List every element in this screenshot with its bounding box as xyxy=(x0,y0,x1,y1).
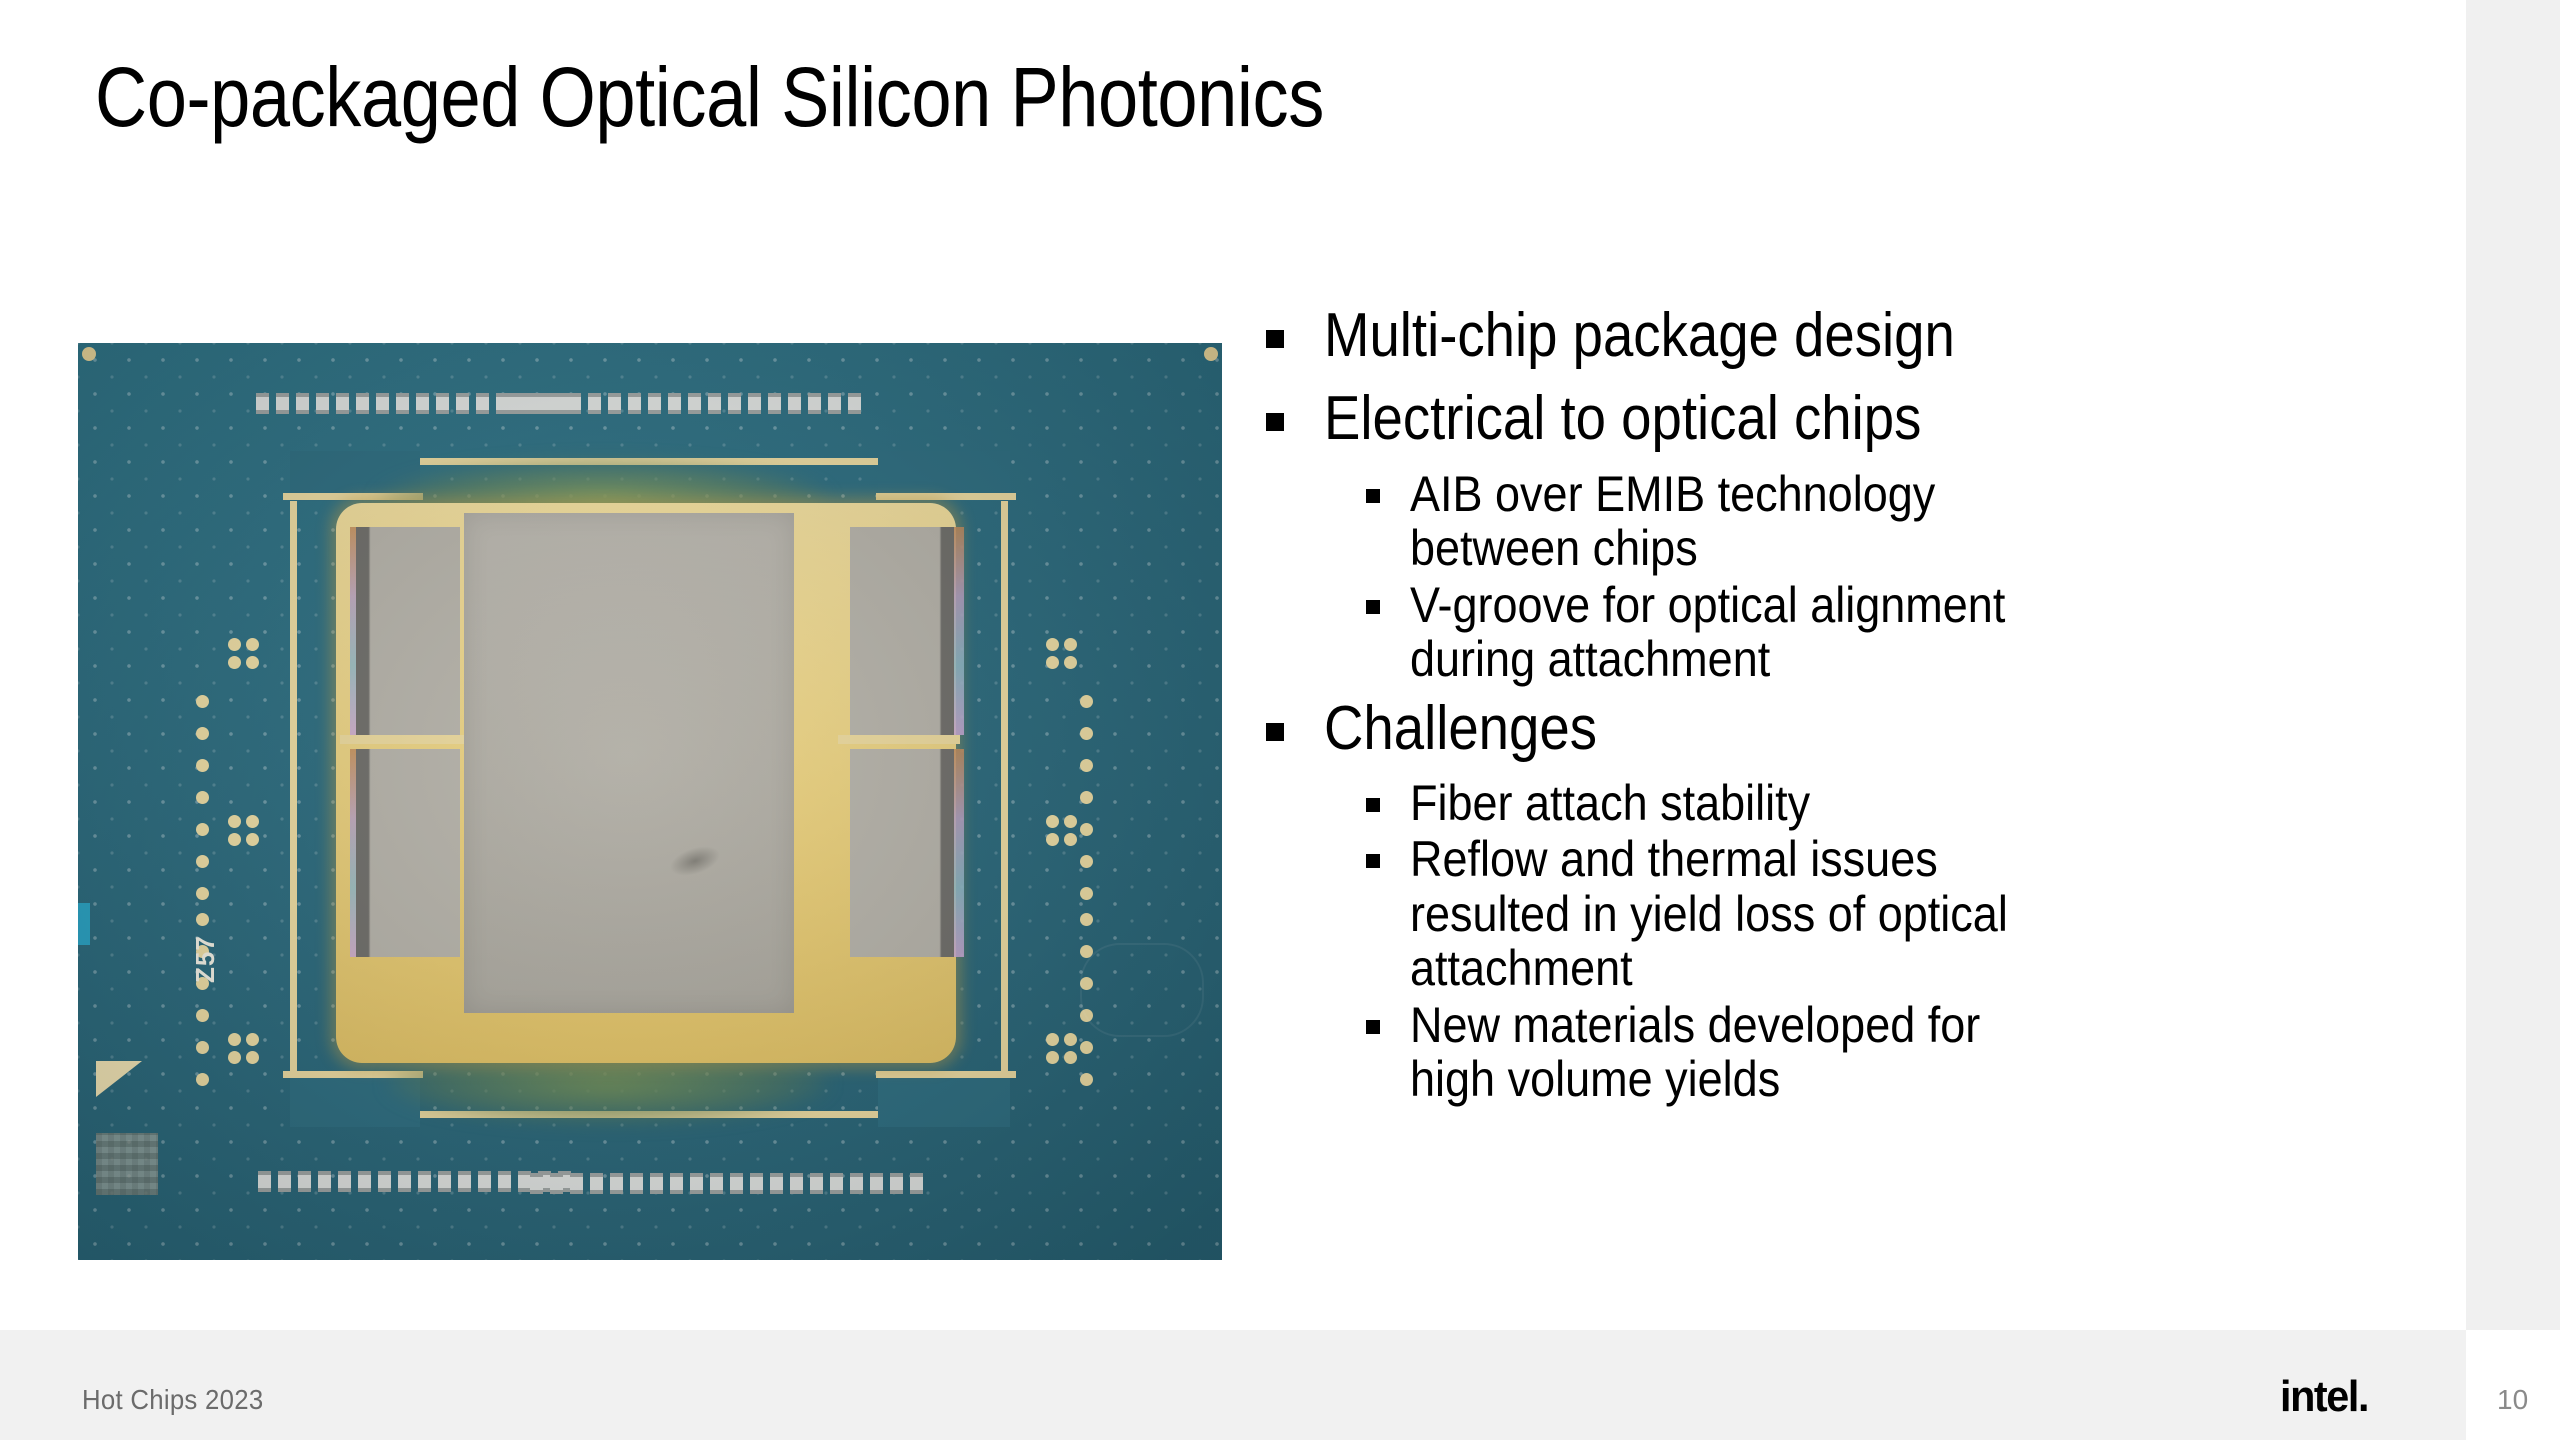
photo-vignette xyxy=(78,343,1222,1260)
footer-band xyxy=(0,1330,2466,1440)
bullet-level1-challenges: Challenges xyxy=(1262,693,2442,764)
sub-bullet-text: Fiber attach stability xyxy=(1410,776,2339,831)
bullet-text: Multi-chip package design xyxy=(1324,300,2308,371)
sub-bullet-marker-square-icon xyxy=(1366,489,1380,503)
bullet-group-challenges: Challenges Fiber attach stability Reflow… xyxy=(1262,693,2442,1107)
sub-bullet-marker-square-icon xyxy=(1366,600,1380,614)
sub-bullet-line: New materials developed for xyxy=(1410,998,2339,1053)
sub-bullet-marker-square-icon xyxy=(1366,798,1380,812)
sub-bullet-line: high volume yields xyxy=(1410,1052,2339,1107)
bullet-marker-square-icon xyxy=(1266,413,1284,431)
bullet-level2-fiber-attach: Fiber attach stability xyxy=(1262,776,2442,831)
page-number: 10 xyxy=(2497,1384,2528,1416)
sub-bullet-marker-square-icon xyxy=(1366,1020,1380,1034)
intel-logo: intel. xyxy=(2280,1372,2368,1422)
sub-bullet-line: between chips xyxy=(1410,521,2339,576)
bullet-marker-square-icon xyxy=(1266,330,1284,348)
viewer-right-gutter xyxy=(2466,0,2560,1330)
bullet-text: Electrical to optical chips xyxy=(1324,383,2308,454)
sub-bullet-line: Reflow and thermal issues xyxy=(1410,832,2339,887)
sub-bullet-line: resulted in yield loss of optical xyxy=(1410,887,2339,942)
sub-bullet-line: V-groove for optical alignment xyxy=(1410,578,2339,633)
slide-canvas: Co-packaged Optical Silicon Photonics xyxy=(0,0,2466,1330)
bullet-text: Challenges xyxy=(1324,693,2308,764)
slide-deck: Co-packaged Optical Silicon Photonics xyxy=(0,0,2560,1440)
sub-bullet-text: New materials developed for high volume … xyxy=(1410,998,2339,1107)
bullet-level2-aib-emib: AIB over EMIB technology between chips xyxy=(1262,467,2442,576)
bullet-marker-square-icon xyxy=(1266,723,1284,741)
bullet-level2-reflow-thermal: Reflow and thermal issues resulted in yi… xyxy=(1262,832,2442,996)
bullet-group-electrical: Electrical to optical chips AIB over EMI… xyxy=(1262,383,2442,686)
sub-bullet-text: AIB over EMIB technology between chips xyxy=(1410,467,2339,576)
bullet-list: Multi-chip package design Electrical to … xyxy=(1262,300,2442,1113)
bullet-level1-multi-chip: Multi-chip package design xyxy=(1262,300,2442,371)
sub-bullet-text: Reflow and thermal issues resulted in yi… xyxy=(1410,832,2339,996)
sub-bullet-line: during attachment xyxy=(1410,632,2339,687)
sub-bullet-line: Fiber attach stability xyxy=(1410,776,2339,831)
sub-bullet-line: AIB over EMIB technology xyxy=(1410,467,2339,522)
sub-bullet-marker-square-icon xyxy=(1366,854,1380,868)
sub-bullet-line: attachment xyxy=(1410,941,2339,996)
chip-package-photo: Z57 xyxy=(78,343,1222,1260)
bullet-level2-v-groove: V-groove for optical alignment during at… xyxy=(1262,578,2442,687)
footer-event-label: Hot Chips 2023 xyxy=(82,1384,263,1416)
bullet-level2-new-materials: New materials developed for high volume … xyxy=(1262,998,2442,1107)
page-title: Co-packaged Optical Silicon Photonics xyxy=(95,50,1987,144)
sub-bullet-text: V-groove for optical alignment during at… xyxy=(1410,578,2339,687)
bullet-level1-electrical: Electrical to optical chips xyxy=(1262,383,2442,454)
